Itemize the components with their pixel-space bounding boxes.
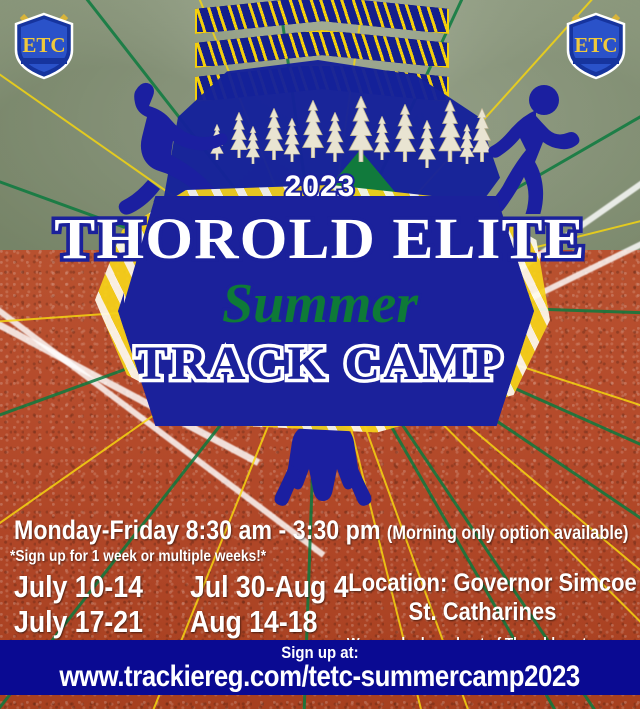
signup-label: Sign up at: [281,644,358,661]
signup-note: *Sign up for 1 week or multiple weeks!* [10,548,266,566]
date-item: July 10-14 [14,571,143,602]
hours-note: (Morning only option available) [387,523,628,544]
etc-crest-logo: ETC [560,6,632,82]
hours-line: Monday-Friday 8:30 am - 3:30 pm (Morning… [14,515,628,546]
etc-crest-logo: ETC [8,6,80,82]
pine-tree-icon [372,116,392,160]
signup-url[interactable]: www.trackiereg.com/tetc-summercamp2023 [60,662,580,692]
pine-tree-icon [324,112,346,162]
pine-tree-icon [300,100,326,158]
title-thorold-elite: THOROLD ELITE [0,205,640,272]
svg-text:ETC: ETC [574,33,617,57]
chevron-stripe [195,0,449,34]
hours-text: Monday-Friday 8:30 am - 3:30 pm [14,515,380,545]
poster-root: ETC ETC 2023 THOROLD ELITE Summer TRACK … [0,0,640,709]
date-item: Aug 14-18 [190,606,349,637]
location-line-1: Location: Governor Simcoe SS [348,569,616,598]
pine-tree-icon [416,120,438,168]
svg-text:ETC: ETC [22,33,65,57]
date-item: July 17-21 [14,606,143,637]
signup-footer-bar: Sign up at: www.trackiereg.com/tetc-summ… [0,640,640,695]
pine-tree-icon [392,104,418,162]
year-label: 2023 [0,170,640,204]
date-item: Jul 30-Aug 4 [190,571,349,602]
title-summer-script: Summer [0,272,640,336]
title-track-camp: TRACK CAMP [0,336,640,391]
location-line-2: St. Catharines [348,598,616,627]
